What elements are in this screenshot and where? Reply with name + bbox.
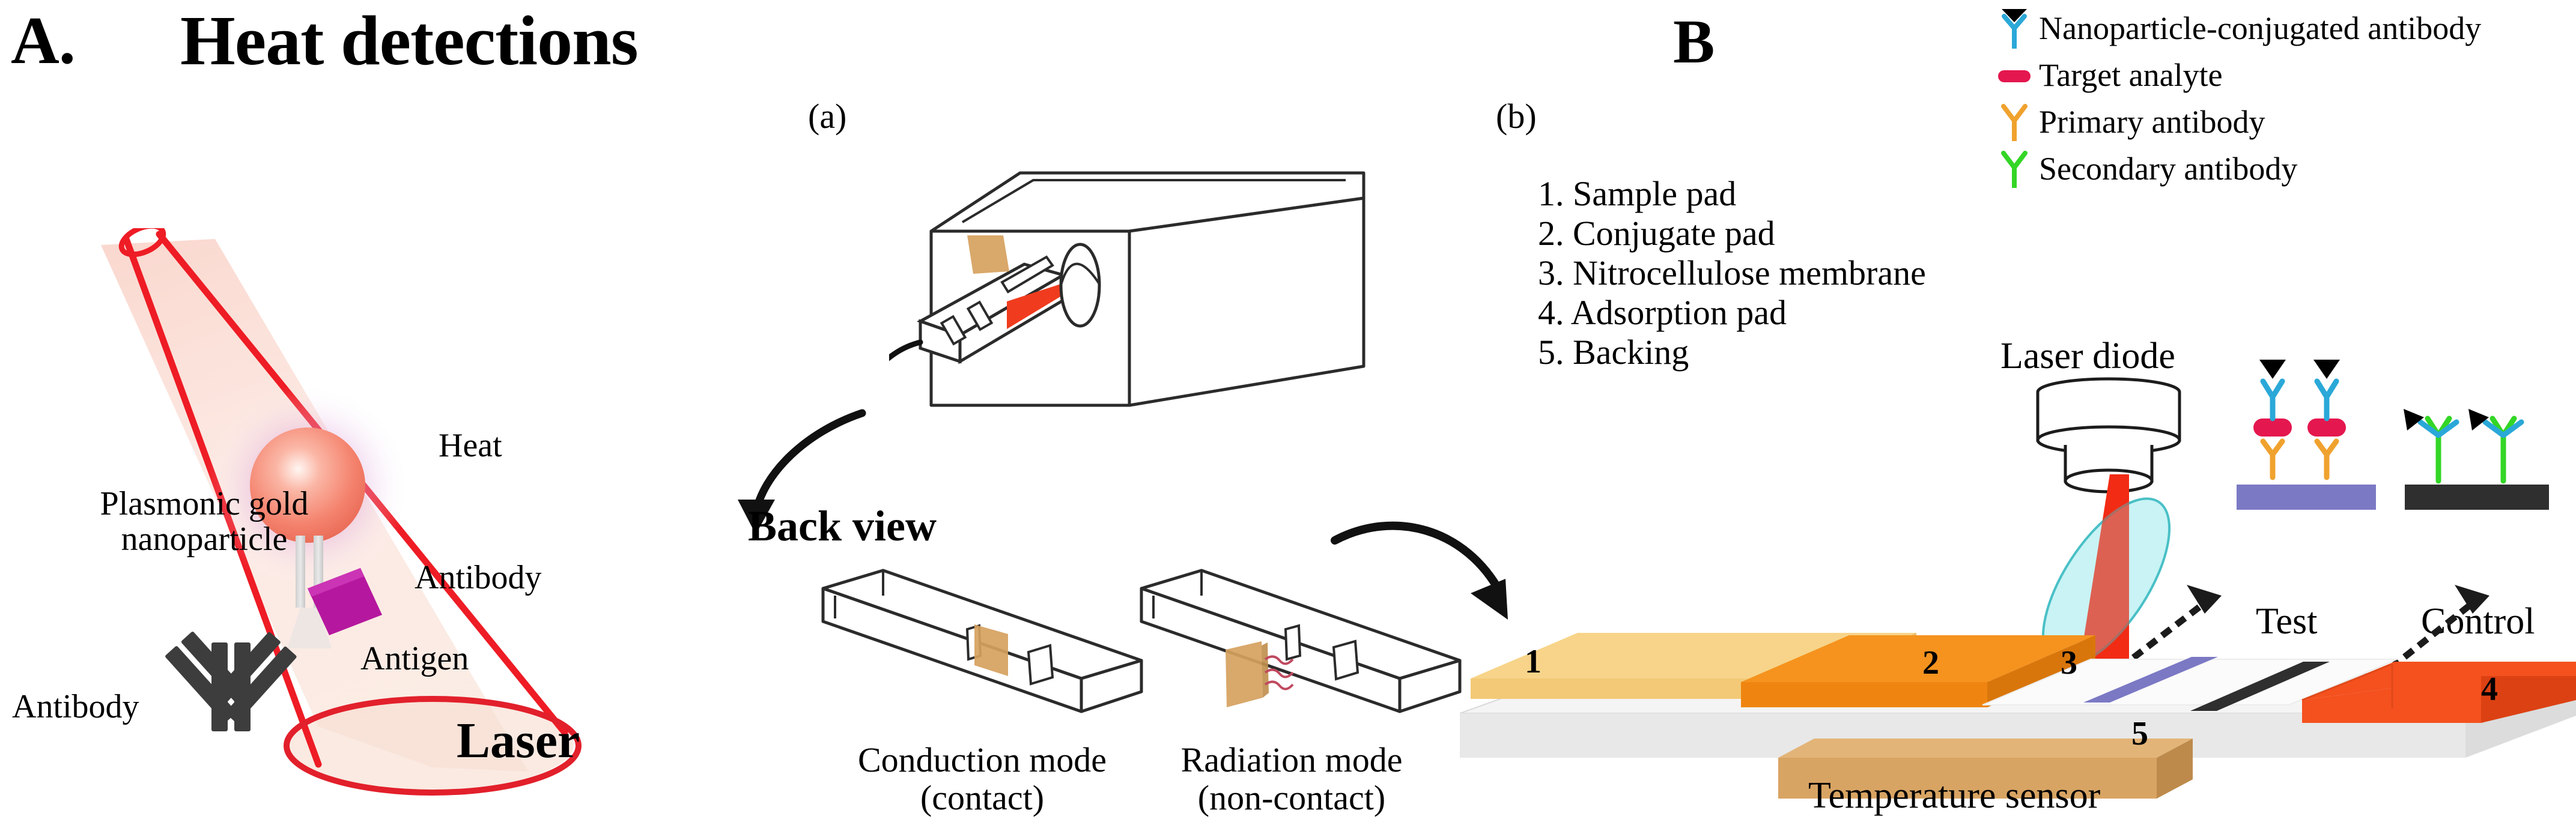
conduction-mode-cassette [817,558,1153,733]
conduction-line-1: Conduction mode [832,742,1132,779]
control-line-bar [2405,485,2549,510]
secondary-antibody-icon [1994,147,2034,190]
list-item: 2. Conjugate pad [1538,214,1926,253]
panel-a-label-antibody-upper: Antibody [415,558,542,597]
antibody-y-icon [165,631,297,731]
nanoparticle-conjugated-antibody-icon [1994,7,2034,50]
pad-number-4: 4 [2481,671,2498,708]
radiation-line-2: (non-contact) [1141,779,1442,817]
panel-a-label-radiation-mode: Radiation mode (non-contact) [1141,742,1442,817]
panel-b-label-laser-diode: Laser diode [2000,335,2175,378]
lens-icon [1061,244,1099,326]
control-line-inset [2400,351,2556,525]
panel-a-letter: A. [11,2,75,80]
legend-label: Nanoparticle-conjugated antibody [2039,12,2481,44]
pad-number-5: 5 [2131,715,2148,752]
sensor-patch [1226,641,1263,707]
legend-item-primary-antibody: Primary antibody [1994,98,2481,145]
plasmonic-line-1: Plasmonic gold [96,486,312,522]
target-analyte-icon [1994,53,2034,97]
panel-a-label-plasmonic-gold-nanoparticle: Plasmonic gold nanoparticle [96,486,312,558]
panel-a-label-antigen: Antigen [360,639,469,678]
strip-parts-list: 1. Sample pad 2. Conjugate pad 3. Nitroc… [1538,174,1926,373]
panel-a-label-antibody-lower: Antibody [12,687,139,726]
panel-b-sub-label: (b) [1496,96,1537,136]
panel-a-label-heat: Heat [439,426,502,465]
legend-item-secondary-antibody: Secondary antibody [1994,145,2481,192]
panel-a-sub-label: (a) [808,96,846,136]
legend-item-nanoparticle-conjugated-antibody: Nanoparticle-conjugated antibody [1994,5,2481,52]
pad-number-1: 1 [1525,643,1542,680]
legend-label: Target analyte [2039,59,2223,91]
test-line-bar [2237,485,2376,510]
list-item: 4. Adsorption pad [1538,293,1926,333]
legend-label: Primary antibody [2039,106,2265,138]
lateral-flow-strip-3d: 1 2 3 5 4 [1460,558,2576,811]
power-cable [889,342,920,384]
legend-label: Secondary antibody [2039,153,2297,185]
primary-antibody-icon [1994,100,2034,144]
panel-a-label-laser: Laser [457,712,580,770]
radiation-line-1: Radiation mode [1141,742,1442,779]
conduction-line-2: (contact) [832,779,1132,817]
pad-number-3: 3 [2061,644,2077,681]
instrument-box-diagram [889,102,1370,474]
panel-a-label-back-view: Back view [748,501,937,551]
panel-a-label-conduction-mode: Conduction mode (contact) [832,742,1132,817]
panel-b-label-temperature-sensor: Temperature sensor [1808,775,2100,817]
list-item: 3. Nitrocellulose membrane [1538,253,1926,293]
test-line-inset [2232,351,2382,525]
panel-b-letter: B [1673,6,1715,77]
plasmonic-line-2: nanoparticle [96,522,312,557]
list-item: 5. Backing [1538,333,1926,372]
legend-item-target-analyte: Target analyte [1994,52,2481,98]
pad-number-2: 2 [1922,644,1939,681]
panel-b-legend: Nanoparticle-conjugated antibody Target … [1994,5,2481,192]
list-item: 1. Sample pad [1538,174,1926,214]
panel-a-title: Heat detections [180,0,638,82]
